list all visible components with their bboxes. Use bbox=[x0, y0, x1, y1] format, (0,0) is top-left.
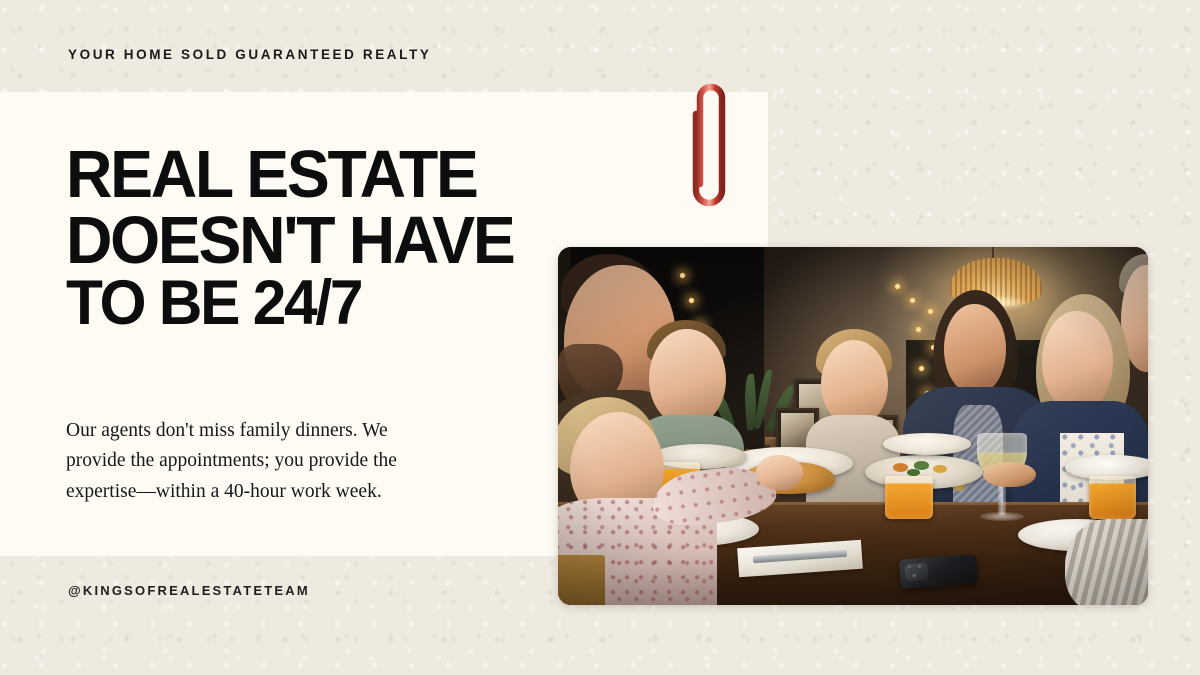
social-handle: @KINGSOFREALESTATETEAM bbox=[68, 583, 310, 598]
photo-girl-pink-hand bbox=[756, 455, 803, 491]
headline-line-1: REAL ESTATE bbox=[66, 142, 565, 208]
photo-reaching-hand bbox=[983, 462, 1036, 487]
family-dinner-photo bbox=[558, 247, 1148, 605]
paperclip-icon bbox=[686, 68, 732, 210]
photo-back-plate bbox=[883, 433, 972, 454]
headline-line-3: TO BE 24/7 bbox=[66, 273, 565, 335]
poster-canvas: YOUR HOME SOLD GUARANTEED REALTY REAL ES… bbox=[0, 0, 1200, 675]
photo-orange-juice-glass-2 bbox=[885, 476, 932, 519]
photo-older-woman-head bbox=[1042, 311, 1113, 411]
headline-line-2: DOESN'T HAVE bbox=[66, 208, 565, 274]
photo-agent-head bbox=[944, 304, 1006, 394]
photo-wooden-chair bbox=[558, 555, 605, 605]
page-title: REAL ESTATE DOESN'T HAVE TO BE 24/7 bbox=[66, 142, 565, 335]
photo-toddler-head bbox=[821, 340, 889, 426]
photo-orange-juice-glass-3 bbox=[1089, 476, 1136, 519]
photo-grandfather-arm bbox=[1065, 519, 1148, 605]
body-paragraph: Our agents don't miss family dinners. We… bbox=[66, 416, 438, 508]
photo-smartphone bbox=[899, 554, 978, 589]
brand-name: YOUR HOME SOLD GUARANTEED REALTY bbox=[68, 47, 431, 62]
photo-boy-head bbox=[649, 329, 726, 426]
